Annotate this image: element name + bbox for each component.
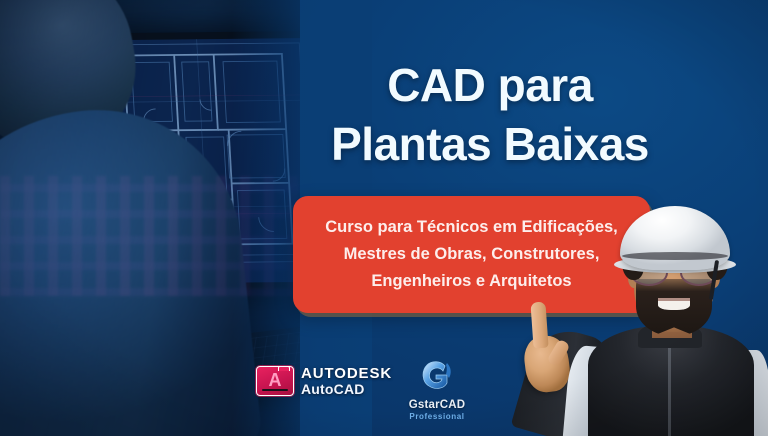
left-person-shoulder — [0, 96, 264, 436]
left-person-hair — [0, 0, 128, 100]
autocad-logo-text: AUTODESK AutoCAD — [301, 366, 392, 396]
gstarcad-brand-label: GstarCAD — [402, 399, 472, 411]
engineer-photo — [560, 198, 768, 436]
page-title: CAD para Plantas Baixas — [300, 56, 680, 174]
autodesk-brand-label: AUTODESK — [301, 366, 392, 381]
gstarcad-edition-label: Professional — [402, 412, 472, 421]
hard-hat-icon — [620, 206, 730, 270]
autocad-a-icon: A — [256, 366, 294, 396]
index-finger — [530, 302, 548, 349]
vest-zipper — [668, 344, 671, 436]
callout-line-3: Engenheiros e Arquitetos — [371, 268, 571, 295]
headline-line-2: Plantas Baixas — [300, 115, 680, 174]
gstarcad-g-icon — [416, 358, 458, 392]
engineer-smile — [658, 298, 690, 310]
autocad-product-label: AutoCAD — [301, 382, 392, 396]
monitor-stand — [174, 288, 230, 340]
autocad-logo: A AUTODESK AutoCAD — [256, 366, 392, 396]
gstarcad-logo: GstarCAD Professional — [402, 358, 472, 421]
banner-image: CAD para Plantas Baixas Curso para Técni… — [0, 0, 768, 436]
left-person-head — [0, 0, 149, 164]
headline-line-1: CAD para — [387, 59, 593, 111]
hard-hat-band — [622, 252, 728, 260]
